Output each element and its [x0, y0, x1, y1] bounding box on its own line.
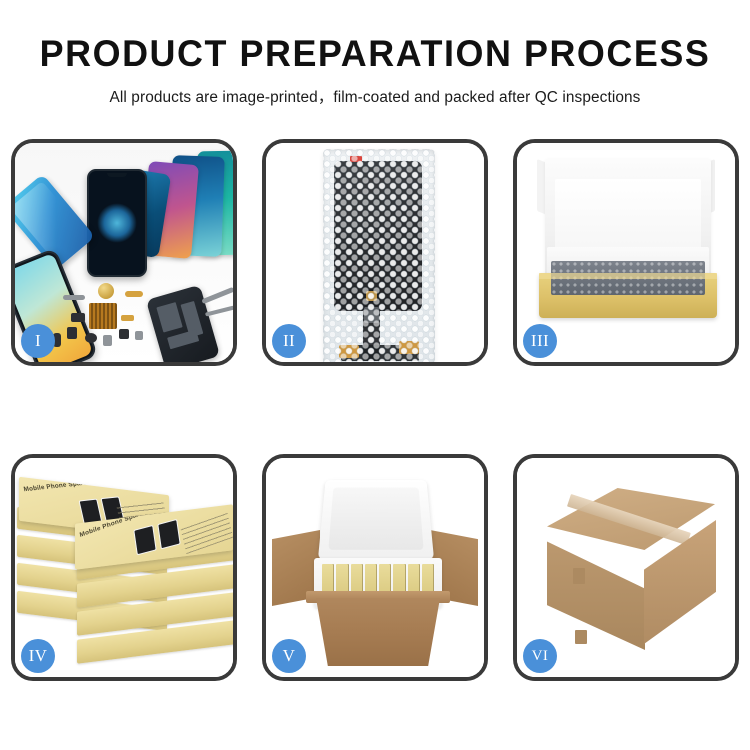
- box-label-text: Mobile Phone Spare Parts: [23, 477, 106, 493]
- small-part-6: [119, 329, 129, 339]
- carton-tab-top: [573, 568, 585, 584]
- step-panel-1: I: [11, 139, 237, 366]
- infographic-page: PRODUCT PREPARATION PROCESS All products…: [0, 0, 750, 750]
- small-part-4: [103, 335, 112, 346]
- camera-lens-part: [98, 283, 114, 299]
- flex-cable-1: [63, 295, 85, 300]
- step-panel-3: III: [513, 139, 739, 366]
- step-image-5: V: [266, 458, 484, 677]
- box-artwork-screen-1: [133, 525, 156, 556]
- step-panel-4: Mobile Phone Spare Parts Mobile Phone Sp…: [11, 454, 237, 681]
- step-image-3: III: [517, 143, 735, 362]
- box-spec-lines: [180, 511, 233, 554]
- step-badge-3: III: [523, 324, 557, 358]
- step-image-6: VI: [517, 458, 735, 677]
- retail-box-stack: Mobile Phone Spare Parts Mobile Phone Sp…: [17, 480, 233, 670]
- step-badge-5: V: [272, 639, 306, 673]
- header: PRODUCT PREPARATION PROCESS All products…: [0, 0, 750, 107]
- carton-tab-bottom: [575, 630, 587, 644]
- step-image-2: II: [266, 143, 484, 362]
- step-panel-5: V: [262, 454, 488, 681]
- tray-lip: [539, 273, 717, 279]
- step-badge-4: IV: [21, 639, 55, 673]
- page-subtitle: All products are image-printed，film-coat…: [0, 85, 750, 107]
- phone-notch: [107, 173, 127, 177]
- flex-cable-2: [125, 291, 143, 297]
- step-panel-2: II: [262, 139, 488, 366]
- box-artwork-screen-2: [157, 519, 180, 550]
- step-image-4: Mobile Phone Spare Parts Mobile Phone Sp…: [15, 458, 233, 677]
- small-part-1: [71, 313, 85, 322]
- step-badge-2: II: [272, 324, 306, 358]
- page-title: PRODUCT PREPARATION PROCESS: [11, 34, 739, 74]
- kraft-box-tray: [539, 273, 717, 318]
- small-part-3: [85, 333, 97, 343]
- step-badge-1: I: [21, 324, 55, 358]
- bubble-texture-2: [323, 149, 435, 362]
- small-part-2: [67, 327, 77, 339]
- phone-front-screen: [87, 169, 147, 277]
- small-part-7: [135, 331, 143, 340]
- step-image-1: I: [15, 143, 233, 362]
- steps-grid: I: [11, 139, 739, 681]
- foam-cooler-lid: [318, 480, 434, 560]
- step-panel-6: VI: [513, 454, 739, 681]
- ic-chip-array: [89, 303, 117, 329]
- step-badge-6: VI: [523, 639, 557, 673]
- carton-body: [312, 598, 444, 666]
- bubble-wrap-bag: [323, 149, 435, 362]
- small-part-5: [121, 315, 134, 321]
